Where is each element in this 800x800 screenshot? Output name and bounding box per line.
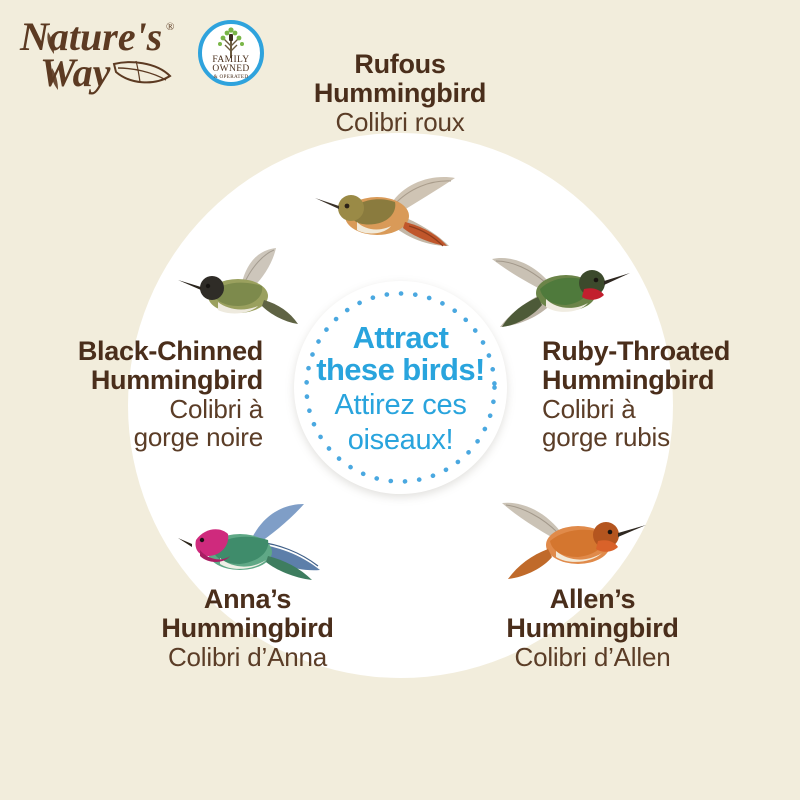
medallion-text-block: Attract these birds! Attirez ces oiseaux… [294,322,507,456]
species-name-en-line1: Ruby-Throated [542,337,792,366]
species-name-en-line1: Black-Chinned [20,337,263,366]
species-label-allens: Allen’s Hummingbird Colibri d’Allen [470,585,715,672]
bird-image-black-chinned [176,248,306,340]
species-label-ruby-throated: Ruby-Throated Hummingbird Colibri à gorg… [542,337,792,451]
species-label-rufous: Rufous Hummingbird Colibri roux [0,50,800,137]
species-name-en-line2: Hummingbird [20,366,263,395]
medallion-fr-line1: Attirez ces [294,390,507,421]
species-name-en-line2: Hummingbird [470,614,715,643]
medallion-fr-line2: oiseaux! [294,425,507,456]
species-name-fr-line2: gorge rubis [542,424,792,452]
species-name-fr-line1: Colibri d’Allen [470,644,715,672]
species-name-fr-line1: Colibri roux [0,109,800,137]
species-name-fr-line1: Colibri à [542,396,792,424]
species-name-en-line2: Hummingbird [542,366,792,395]
infographic-canvas: Nature's ® Way [0,0,800,800]
species-name-en-line2: Hummingbird [0,79,800,108]
medallion-en-line2: these birds! [294,354,507,386]
logo-trademark-symbol: ® [166,21,174,33]
medallion-en-line1: Attract [294,322,507,354]
species-name-en-line1: Anna’s [125,585,370,614]
species-name-en-line1: Rufous [0,50,800,79]
species-name-en-line2: Hummingbird [125,614,370,643]
bird-image-allens [494,495,649,595]
species-name-en-line1: Allen’s [470,585,715,614]
bird-image-annas [178,500,333,595]
attract-these-birds-medallion: Attract these birds! Attirez ces oiseaux… [294,281,507,494]
species-label-annas: Anna’s Hummingbird Colibri d’Anna [125,585,370,672]
bird-image-ruby-throated [490,245,630,345]
species-name-fr-line1: Colibri d’Anna [125,644,370,672]
species-name-fr-line1: Colibri à [20,396,263,424]
species-label-black-chinned: Black-Chinned Hummingbird Colibri à gorg… [20,337,263,451]
species-name-fr-line2: gorge noire [20,424,263,452]
bird-image-rufous [305,168,465,268]
